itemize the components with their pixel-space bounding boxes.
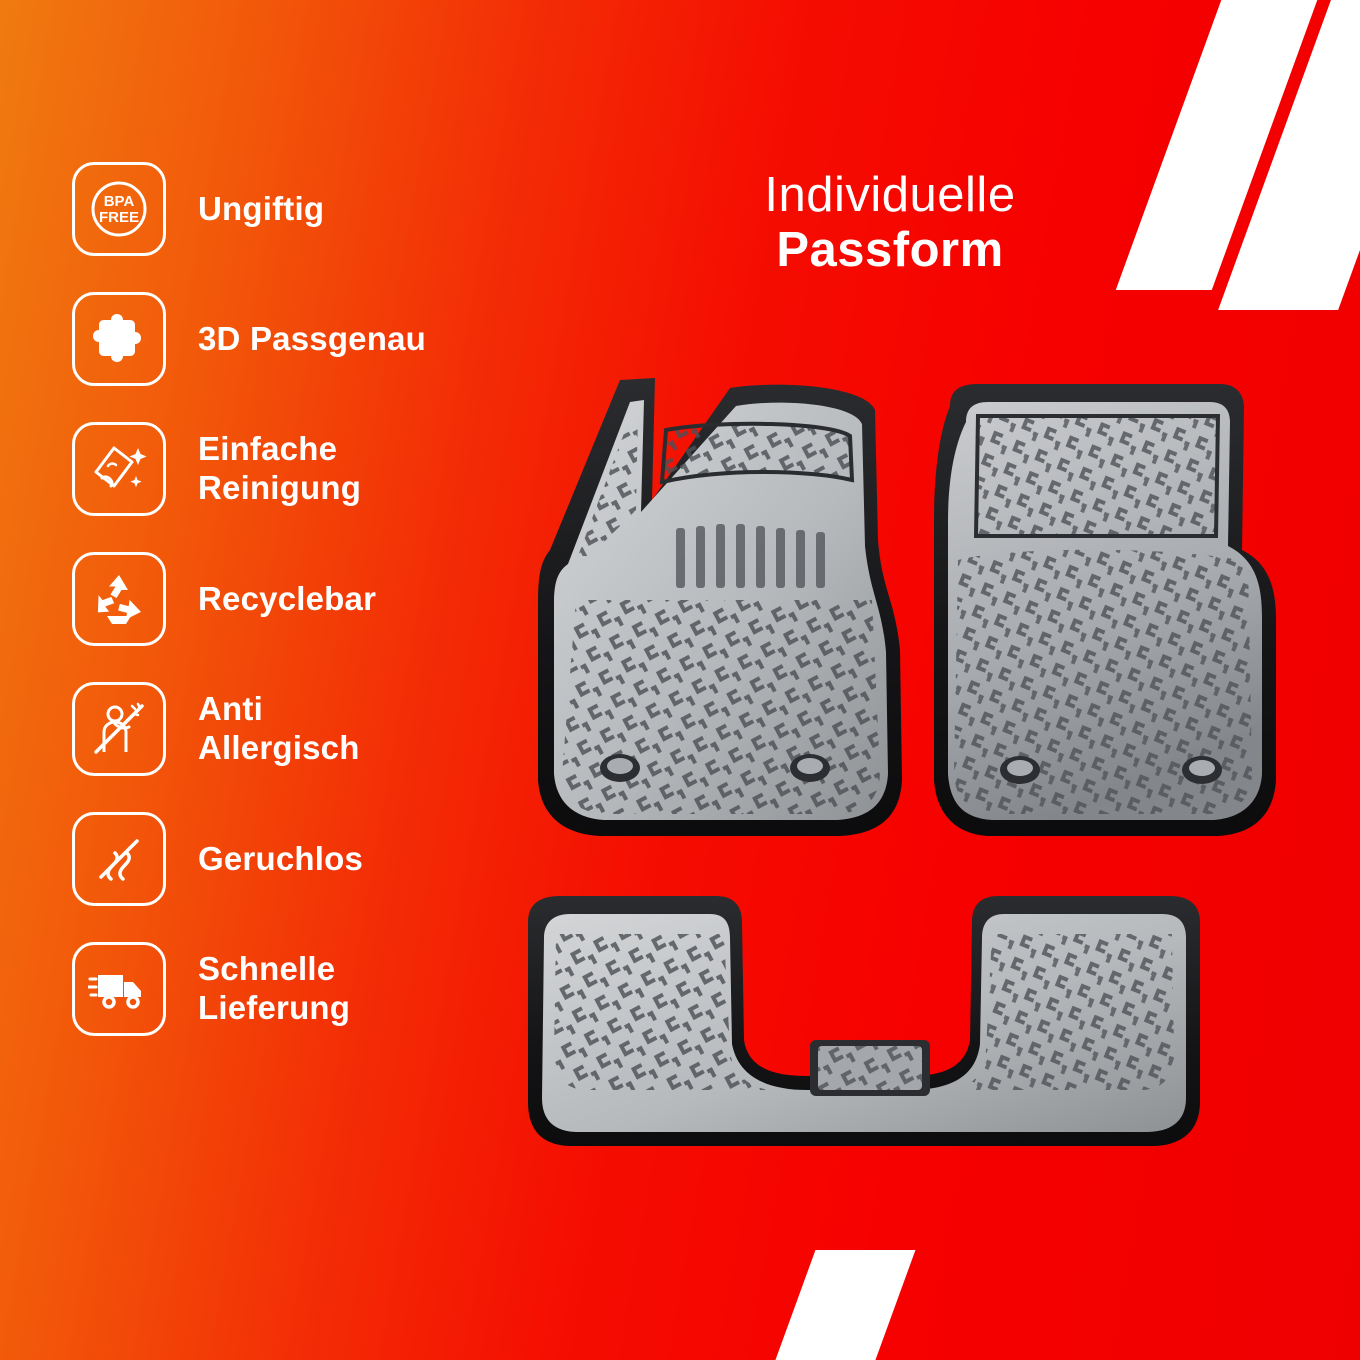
- anti-allergy-icon: [72, 682, 166, 776]
- feature-label: Anti Allergisch: [198, 690, 360, 768]
- product-promo-poster: Individuelle Passform BPA FREE Ungiftig …: [0, 0, 1360, 1360]
- headline: Individuelle Passform: [640, 168, 1140, 278]
- feature-label: Recyclebar: [198, 580, 376, 619]
- svg-text:BPA: BPA: [104, 193, 135, 210]
- feature-label: Schnelle Lieferung: [198, 950, 350, 1028]
- odourless-icon: [72, 812, 166, 906]
- feature-item-geruchlos: Geruchlos: [72, 800, 542, 918]
- rear-floor-mat: [528, 896, 1200, 1146]
- feature-item-anti-allergisch: Anti Allergisch: [72, 670, 542, 788]
- feature-list: BPA FREE Ungiftig 3D Passgenau: [72, 150, 542, 1060]
- svg-text:FREE: FREE: [99, 209, 139, 226]
- feature-label: Einfache Reinigung: [198, 430, 361, 508]
- feature-label: Geruchlos: [198, 840, 363, 879]
- front-right-floor-mat: [934, 384, 1276, 836]
- bpa-free-icon: BPA FREE: [72, 162, 166, 256]
- feature-label: 3D Passgenau: [198, 320, 426, 359]
- cleaning-hand-sparkle-icon: [72, 422, 166, 516]
- puzzle-piece-icon: [72, 292, 166, 386]
- recycle-icon: [72, 552, 166, 646]
- feature-item-schnelle-lieferung: Schnelle Lieferung: [72, 930, 542, 1048]
- headline-line-1: Individuelle: [640, 168, 1140, 223]
- delivery-truck-icon: [72, 942, 166, 1036]
- front-left-floor-mat: [538, 378, 902, 836]
- feature-item-3d-passgenau: 3D Passgenau: [72, 280, 542, 398]
- feature-item-einfache-reinigung: Einfache Reinigung: [72, 410, 542, 528]
- feature-label: Ungiftig: [198, 190, 324, 229]
- feature-item-ungiftig: BPA FREE Ungiftig: [72, 150, 542, 268]
- feature-item-recyclebar: Recyclebar: [72, 540, 542, 658]
- headline-line-2: Passform: [640, 223, 1140, 278]
- decorative-stripe-bottom: [765, 1250, 916, 1360]
- product-image-floor-mats: [480, 350, 1300, 1180]
